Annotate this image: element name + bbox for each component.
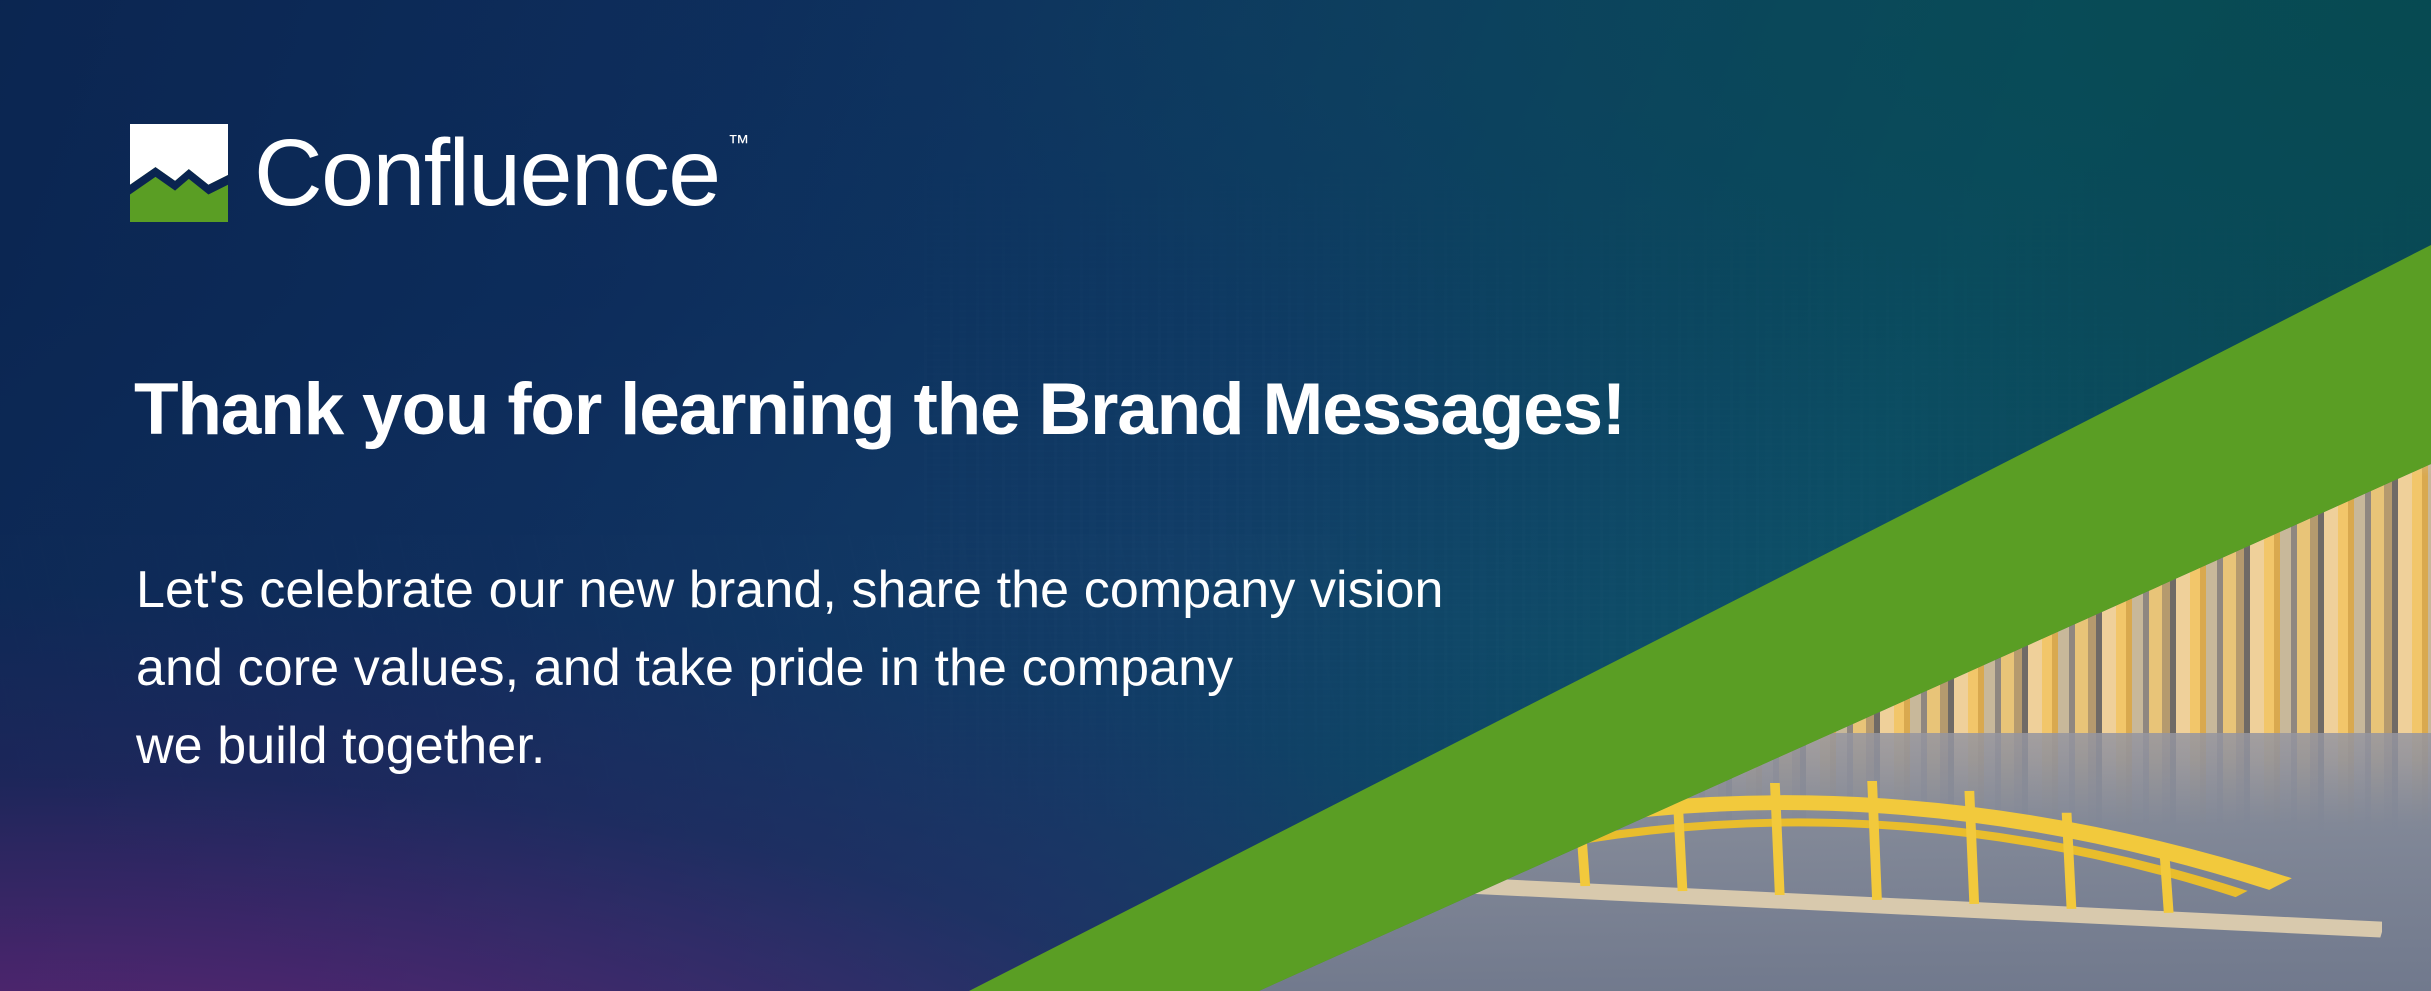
confluence-mountain-chart-icon <box>130 124 228 222</box>
confluence-logo: Confluence ™ <box>130 124 720 222</box>
trademark-symbol: ™ <box>728 132 750 154</box>
wordmark-text: Confluence <box>254 120 720 226</box>
page-title: Thank you for learning the Brand Message… <box>134 368 1625 452</box>
subcopy-line: we build together. <box>136 707 1444 785</box>
subcopy-line: Let's celebrate our new brand, share the… <box>136 551 1444 629</box>
confluence-wordmark: Confluence ™ <box>254 124 720 222</box>
banner-content: Confluence ™ Thank you for learning the … <box>0 0 2431 991</box>
subcopy-paragraph: Let's celebrate our new brand, share the… <box>136 551 1444 785</box>
brand-banner: Confluence ™ Thank you for learning the … <box>0 0 2431 991</box>
subcopy-line: and core values, and take pride in the c… <box>136 629 1444 707</box>
